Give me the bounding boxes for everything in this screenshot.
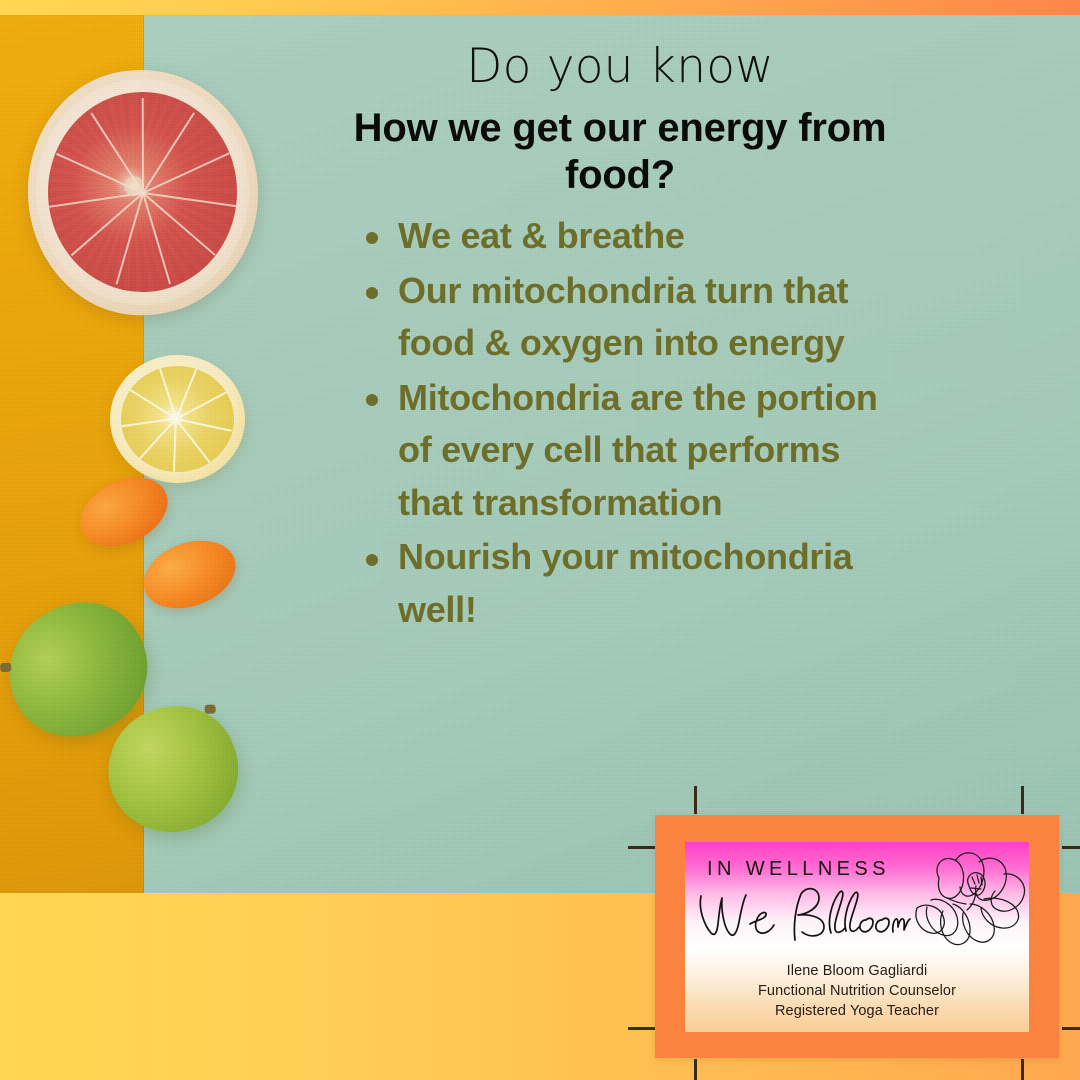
bullet-dot-icon	[366, 232, 378, 244]
bullet-list: We eat & breathe Our mitochondria turn t…	[340, 210, 900, 636]
crop-mark-icon	[1021, 786, 1024, 814]
brand-name-top: IN WELLNESS	[707, 858, 890, 881]
logo-card: IN WELLNESS	[655, 815, 1059, 1058]
owner-name: Ilene Bloom Gagliardi	[685, 961, 1029, 981]
list-item: We eat & breathe	[340, 210, 900, 263]
text-column: Do you know How we get our energy from f…	[340, 42, 900, 639]
logo-card-inner: IN WELLNESS	[685, 842, 1029, 1032]
crop-mark-icon	[1021, 1059, 1024, 1080]
magnolia-flower-icon	[909, 844, 1029, 962]
bullet-dot-icon	[366, 554, 378, 566]
crop-mark-icon	[1062, 846, 1080, 849]
list-item-label: We eat & breathe	[398, 215, 685, 256]
bullet-dot-icon	[366, 287, 378, 299]
owner-title-primary: Functional Nutrition Counselor	[685, 981, 1029, 1001]
list-item: Mitochondria are the portion of every ce…	[340, 372, 900, 530]
top-gradient-band	[0, 0, 1080, 15]
brand-script-wordmark	[695, 886, 910, 944]
crop-mark-icon	[1062, 1027, 1080, 1030]
crop-mark-icon	[628, 1027, 656, 1030]
list-item: Our mitochondria turn that food & oxygen…	[340, 265, 900, 370]
kicker-text: Do you know	[340, 42, 900, 91]
crop-mark-icon	[694, 1059, 697, 1080]
lemon-half-icon	[110, 355, 245, 483]
crop-mark-icon	[694, 786, 697, 814]
bullet-dot-icon	[366, 394, 378, 406]
list-item-label: Mitochondria are the portion of every ce…	[398, 377, 878, 523]
crop-mark-icon	[628, 846, 656, 849]
brand-credentials: Ilene Bloom Gagliardi Functional Nutriti…	[685, 961, 1029, 1021]
grapefruit-half-icon	[28, 70, 258, 315]
headline-text: How we get our energy from food?	[340, 105, 900, 198]
list-item-label: Our mitochondria turn that food & oxygen…	[398, 270, 848, 364]
list-item-label: Nourish your mitochondria well!	[398, 536, 853, 630]
poster-canvas: Do you know How we get our energy from f…	[0, 0, 1080, 1080]
list-item: Nourish your mitochondria well!	[340, 531, 900, 636]
owner-title-secondary: Registered Yoga Teacher	[685, 1001, 1029, 1021]
